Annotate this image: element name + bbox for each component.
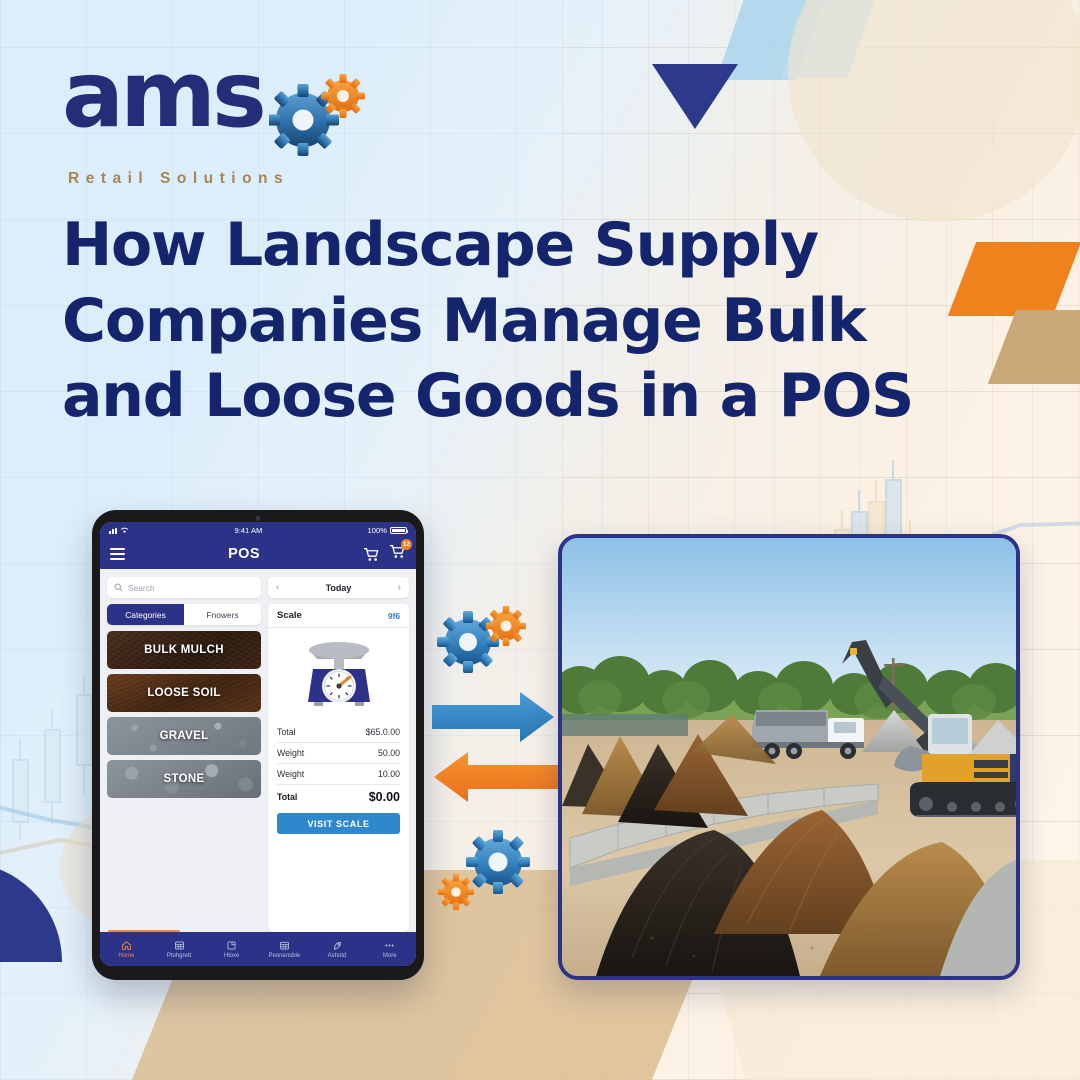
- date-selector: ‹ Today ›: [268, 577, 409, 598]
- nav-item-more[interactable]: More: [363, 940, 416, 959]
- headline-line-1: How Landscape Supply: [62, 208, 942, 284]
- app-bar-title: POS: [228, 546, 260, 562]
- category-label: LOOSE SOIL: [147, 687, 220, 699]
- row-key: Weight: [277, 769, 304, 779]
- battery-full-icon: [390, 527, 407, 535]
- headline-line-3: and Loose Goods in a POS: [62, 359, 942, 435]
- catalog-column: Search Categories Fnowers BULK MULCH LOO…: [107, 577, 261, 932]
- app-bar: POS 12: [100, 539, 416, 569]
- arrow-right-blue-icon: [432, 692, 554, 742]
- grid-icon: [174, 940, 185, 951]
- category-tile-gravel[interactable]: GRAVEL: [107, 717, 261, 755]
- pos-content: Search Categories Fnowers BULK MULCH LOO…: [100, 569, 416, 932]
- row-value: $0.00: [369, 790, 400, 804]
- chevron-left-icon[interactable]: ‹: [276, 582, 279, 593]
- more-dots-icon: [383, 940, 396, 951]
- hamburger-menu-icon[interactable]: [110, 548, 125, 559]
- headline-line-2: Companies Manage Bulk: [62, 284, 942, 360]
- logo-tagline: Retail Solutions: [68, 170, 422, 188]
- reports-icon: [226, 940, 237, 951]
- category-list: BULK MULCH LOOSE SOIL GRAVEL STONE: [107, 631, 261, 798]
- battery-percent-label: 100%: [368, 526, 387, 535]
- search-icon: [114, 583, 123, 592]
- search-placeholder: Search: [128, 583, 155, 593]
- gear-orange-icon: [321, 74, 365, 118]
- nav-item-5[interactable]: Ashotd: [311, 940, 364, 959]
- chevron-right-icon[interactable]: ›: [398, 582, 401, 593]
- logo-gears: [269, 68, 365, 160]
- page-title: How Landscape Supply Companies Manage Bu…: [62, 208, 942, 435]
- calendar-icon: [279, 940, 290, 951]
- bottom-navigation: Home Ptohgrett Hloxe: [100, 932, 416, 966]
- arrow-left-orange-icon: [434, 752, 558, 802]
- row-key: Weight: [277, 748, 304, 758]
- row-value: 50.00: [378, 748, 400, 758]
- tablet-camera: [256, 516, 261, 521]
- category-label: STONE: [164, 773, 205, 785]
- row-key: Total: [277, 727, 296, 737]
- scale-row: Weight 10.00: [277, 764, 400, 785]
- scale-card-title: Scale: [277, 610, 302, 621]
- date-selector-label: Today: [326, 583, 352, 593]
- process-flow-graphics: [432, 600, 564, 930]
- status-bar: 9:41 AM 100%: [100, 522, 416, 539]
- scale-column: ‹ Today › Scale 9f6: [268, 577, 409, 932]
- gear-orange-icon: [438, 874, 474, 910]
- navy-triangle: [652, 64, 738, 129]
- scale-row-grand-total: Total $0.00: [277, 785, 400, 809]
- gear-blue-icon: [466, 830, 530, 894]
- visit-scale-button[interactable]: VISIT SCALE: [277, 813, 400, 834]
- search-input[interactable]: Search: [107, 577, 261, 598]
- landscape-supply-yard-photo: [558, 534, 1020, 980]
- tablet-screen: 9:41 AM 100% POS: [100, 522, 416, 966]
- scale-row: Total $65.0.00: [277, 722, 400, 743]
- tab-flowers[interactable]: Fnowers: [184, 604, 261, 625]
- nav-item-home[interactable]: Home: [100, 940, 153, 959]
- category-tile-stone[interactable]: STONE: [107, 760, 261, 798]
- nav-label: Ashotd: [328, 953, 347, 959]
- row-value: 10.00: [378, 769, 400, 779]
- nav-item-3[interactable]: Hloxe: [205, 940, 258, 959]
- category-tile-loose-soil[interactable]: LOOSE SOIL: [107, 674, 261, 712]
- nav-label: Ptohgrett: [167, 953, 191, 959]
- shopping-cart-badge-icon[interactable]: 12: [389, 544, 406, 564]
- scale-card-value: 9f6: [388, 611, 400, 621]
- gear-orange-icon: [486, 606, 526, 646]
- cart-badge-count: 12: [401, 539, 412, 550]
- gear-blue-icon: [437, 611, 499, 673]
- nav-label: More: [383, 953, 397, 959]
- scale-card-header: Scale 9f6: [268, 604, 409, 628]
- nav-label: Hloxe: [224, 953, 239, 959]
- nav-item-4[interactable]: Peonensble: [258, 940, 311, 959]
- scale-totals-list: Total $65.0.00 Weight 50.00 Weight 10.00: [268, 722, 409, 809]
- scale-row: Weight 50.00: [277, 743, 400, 764]
- nav-accent-bar: [108, 930, 180, 933]
- tab-categories[interactable]: Categories: [107, 604, 184, 625]
- row-value: $65.0.00: [366, 727, 400, 737]
- ams-logo: ams: [62, 56, 422, 188]
- weighing-scale-icon: [268, 628, 409, 722]
- catalog-tabs: Categories Fnowers: [107, 604, 261, 625]
- scale-card: Scale 9f6: [268, 604, 409, 932]
- row-key: Total: [277, 792, 297, 802]
- nav-label: Home: [118, 953, 134, 959]
- shopping-cart-icon[interactable]: [363, 547, 380, 562]
- wifi-icon: [120, 527, 129, 534]
- logo-wordmark: ams: [62, 56, 263, 133]
- category-tile-bulk-mulch[interactable]: BULK MULCH: [107, 631, 261, 669]
- rocket-icon: [332, 940, 343, 951]
- category-label: BULK MULCH: [144, 644, 224, 656]
- signal-dots-icon: [109, 528, 117, 534]
- tablet-device-mockup: 9:41 AM 100% POS: [92, 510, 424, 980]
- home-icon: [121, 940, 132, 951]
- category-label: GRAVEL: [160, 730, 209, 742]
- nav-item-2[interactable]: Ptohgrett: [153, 940, 206, 959]
- status-bar-time: 9:41 AM: [234, 526, 262, 535]
- nav-label: Peonensble: [269, 953, 301, 959]
